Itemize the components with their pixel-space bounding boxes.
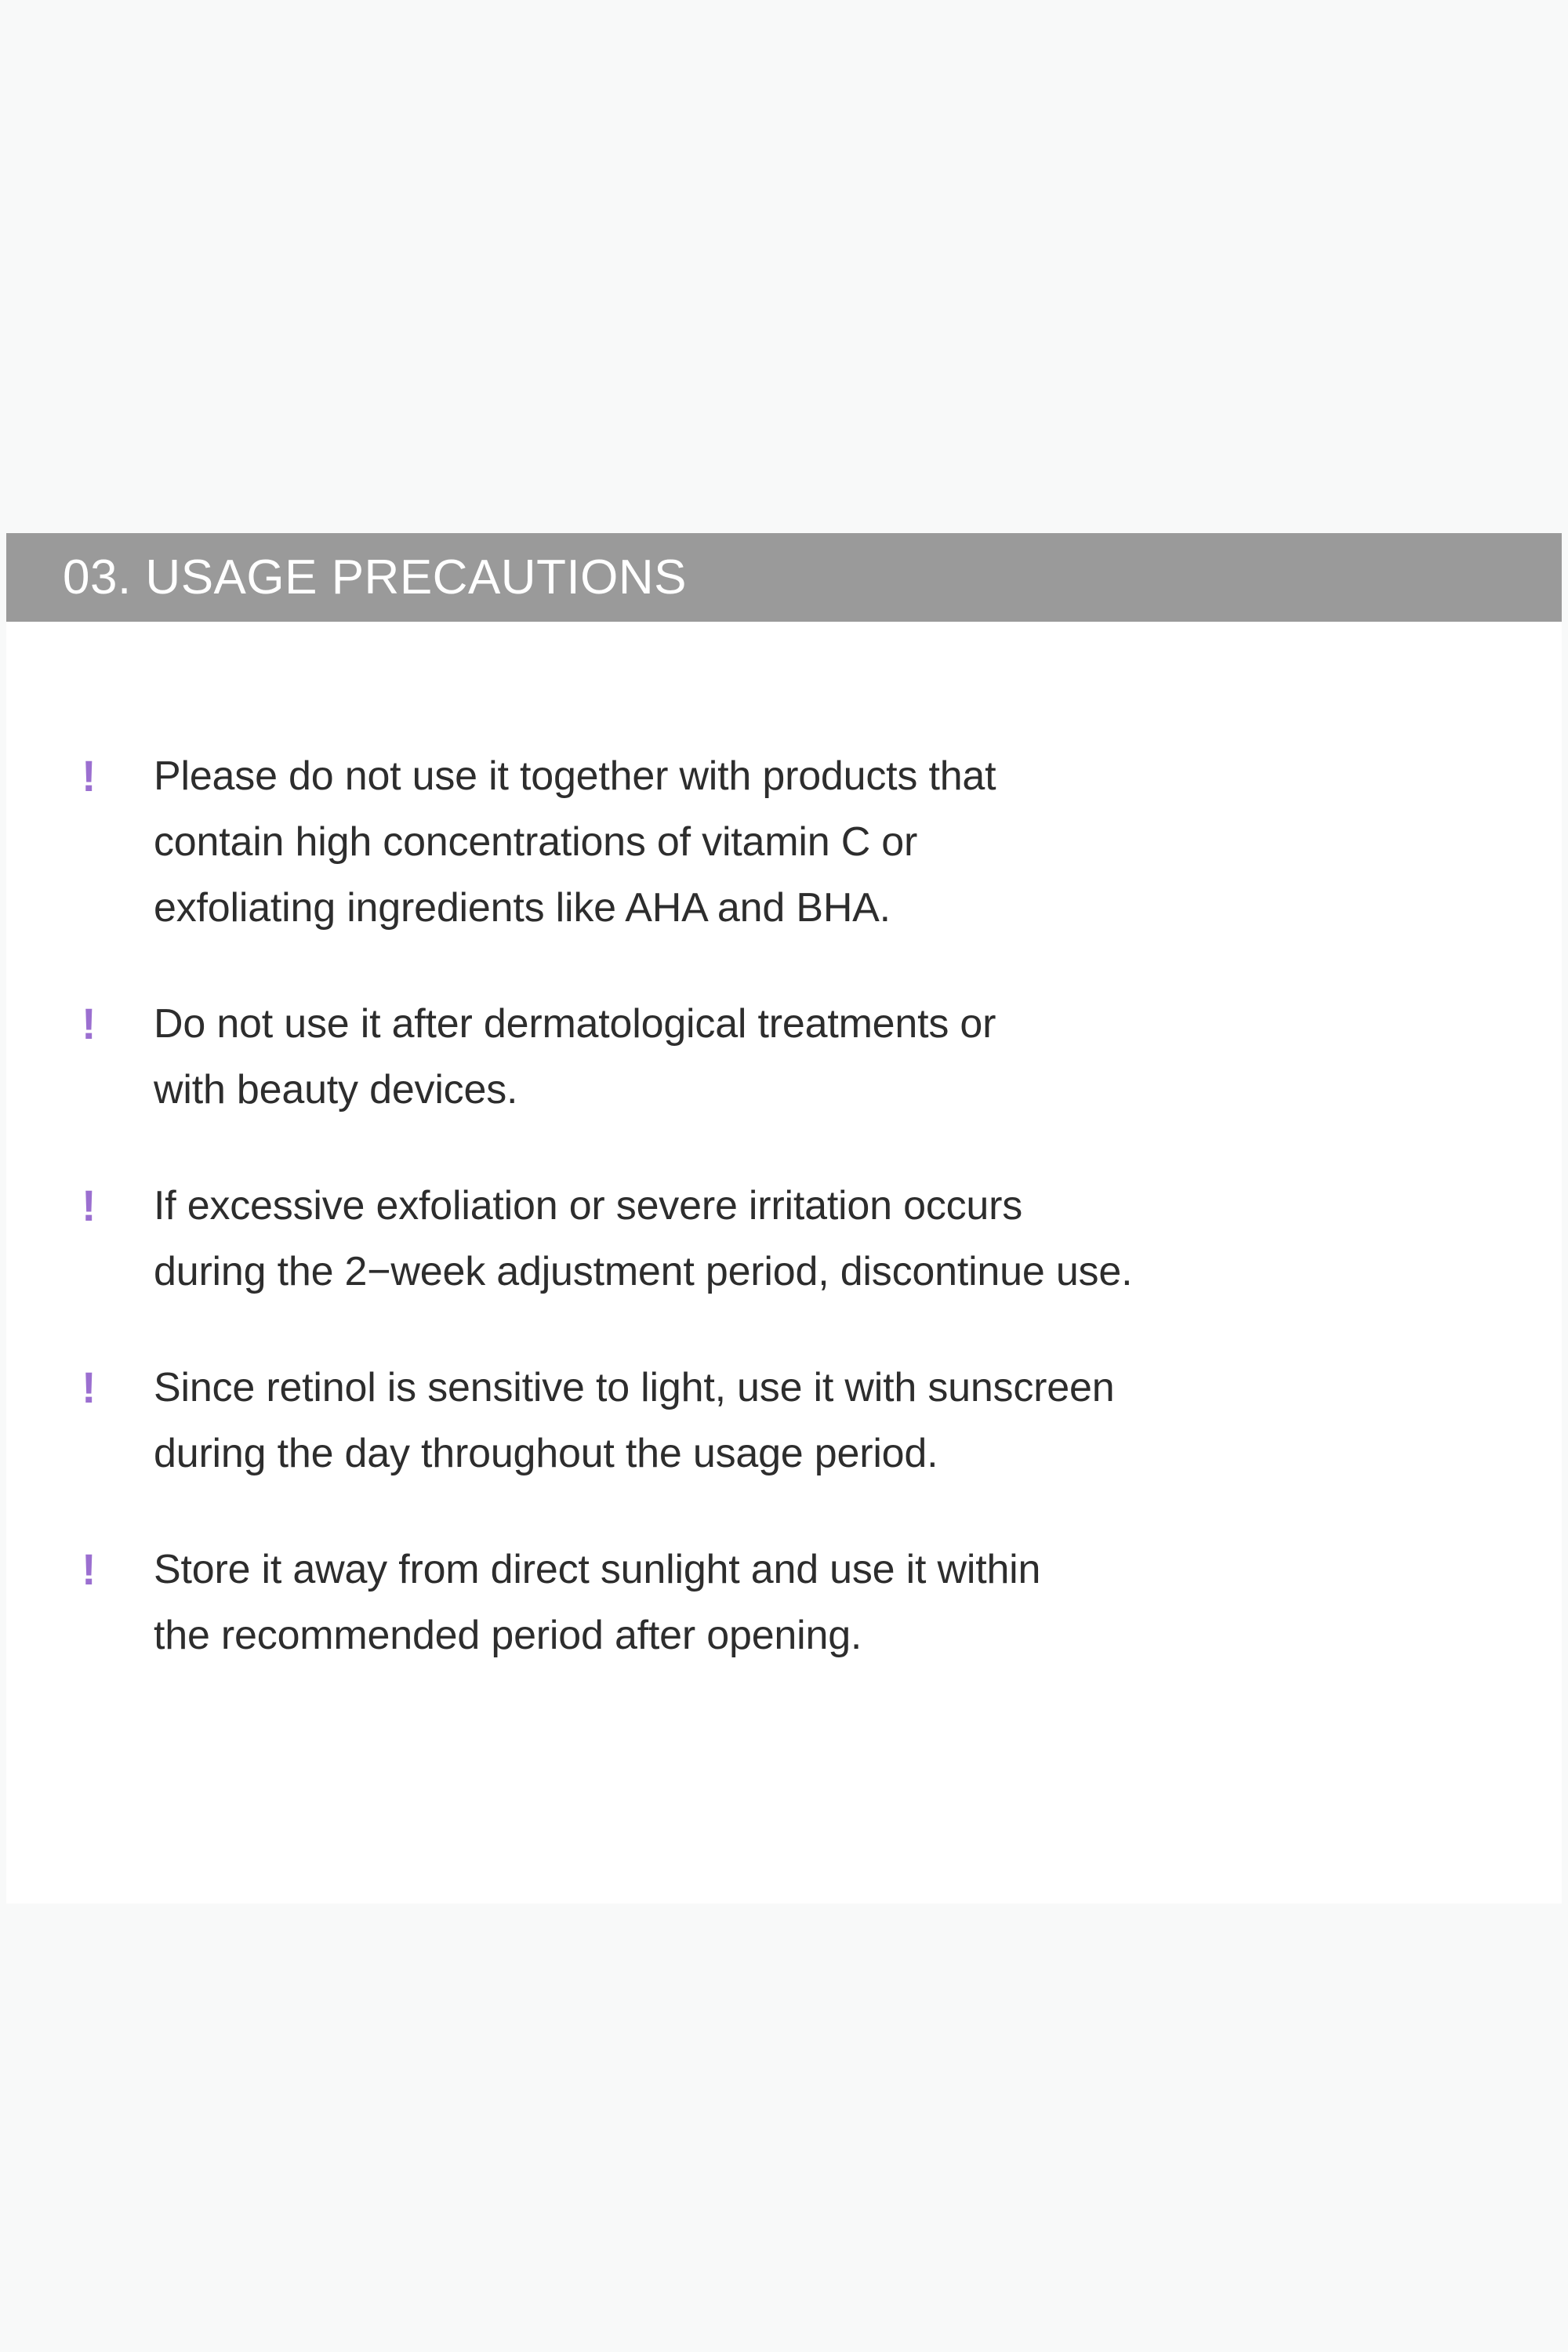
precaution-text: Please do not use it together with produ…	[154, 743, 1507, 941]
exclamation-mark-icon: !	[82, 1173, 154, 1239]
list-item: ! Since retinol is sensitive to light, u…	[6, 1355, 1562, 1486]
list-item: ! Please do not use it together with pro…	[6, 743, 1562, 941]
exclamation-mark-icon: !	[82, 991, 154, 1057]
list-item: ! Do not use it after dermatological tre…	[6, 991, 1562, 1123]
section-header-bar: 03. USAGE PRECAUTIONS	[6, 533, 1562, 622]
precaution-list: ! Please do not use it together with pro…	[6, 622, 1562, 1668]
precaution-text: Do not use it after dermatological treat…	[154, 991, 1507, 1123]
precaution-text: Since retinol is sensitive to light, use…	[154, 1355, 1507, 1486]
page-root: 03. USAGE PRECAUTIONS ! Please do not us…	[0, 0, 1568, 2352]
exclamation-mark-icon: !	[82, 1537, 154, 1602]
precaution-text: Store it away from direct sunlight and u…	[154, 1537, 1507, 1668]
precaution-text: If excessive exfoliation or severe irrit…	[154, 1173, 1507, 1305]
list-item: ! Store it away from direct sunlight and…	[6, 1537, 1562, 1668]
exclamation-mark-icon: !	[82, 743, 154, 809]
section-header-title: 03. USAGE PRECAUTIONS	[6, 554, 687, 602]
exclamation-mark-icon: !	[82, 1355, 154, 1421]
usage-precautions-card: 03. USAGE PRECAUTIONS ! Please do not us…	[6, 533, 1562, 1904]
list-item: ! If excessive exfoliation or severe irr…	[6, 1173, 1562, 1305]
